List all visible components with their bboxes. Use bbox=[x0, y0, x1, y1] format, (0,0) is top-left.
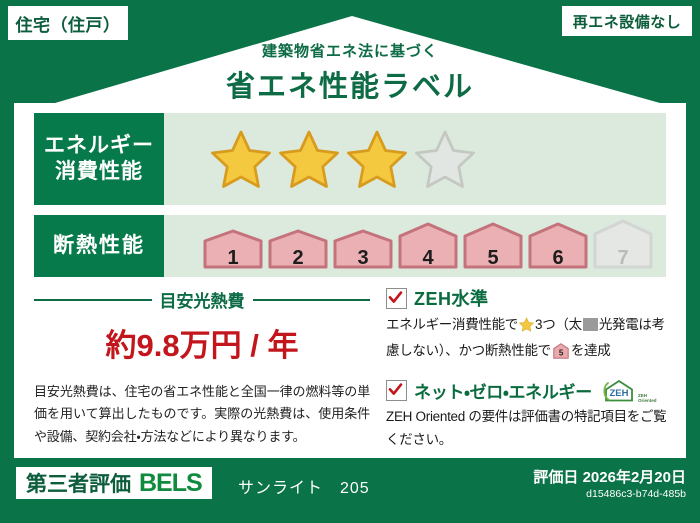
utility-cost-amount: 約9.8万円 / 年 bbox=[34, 320, 370, 365]
bels-energy-label: 住宅（住戸） 再エネ設備なし 建築物省エネ法に基づく 省エネ性能ラベル エネルギ… bbox=[0, 0, 700, 523]
zeh-standard-title-line: ZEH水準 bbox=[386, 285, 676, 311]
energy-performance-key: エネルギー 消費性能 bbox=[34, 113, 164, 205]
energy-key-line2: 消費性能 bbox=[55, 159, 143, 185]
insulation-level-5: 5 bbox=[462, 222, 524, 274]
redacted-character bbox=[583, 318, 598, 331]
insulation-level-number: 4 bbox=[397, 247, 459, 270]
bels-jp-label: 第三者評価 bbox=[26, 468, 131, 498]
insulation-performance-value: 1234567 bbox=[164, 215, 666, 277]
rule-right bbox=[253, 299, 371, 301]
insulation-key-label: 断熱性能 bbox=[53, 233, 145, 259]
net-zero-title-line: ネット・ゼロ・エネルギー ZEH ZEH Oriented bbox=[386, 378, 676, 403]
net-zero-checkbox[interactable] bbox=[386, 380, 407, 401]
star-empty-icon bbox=[414, 129, 476, 189]
page-title: 省エネ性能ラベル bbox=[0, 63, 700, 105]
insulation-level-1: 1 bbox=[202, 229, 264, 274]
renewable-equipment-label: 再エネ設備なし bbox=[573, 11, 682, 32]
insulation-level-7: 7 bbox=[592, 219, 654, 274]
zeh-desc-part3: を達成 bbox=[571, 343, 611, 358]
utility-cost-column: 目安光熱費 約9.8万円 / 年 目安光熱費は、住宅の省エネ性能と全国一律の燃料… bbox=[34, 285, 370, 448]
insulation-performance-key: 断熱性能 bbox=[34, 215, 164, 277]
insulation-scale: 1234567 bbox=[164, 219, 654, 274]
zeh-house-logo-icon: ZEH bbox=[602, 379, 636, 403]
utility-cost-heading-label: 目安光熱費 bbox=[160, 287, 245, 312]
main-panel: エネルギー 消費性能 断熱性能 1234567 目安光熱費 bbox=[14, 103, 686, 458]
zeh-logo: ZEH ZEH Oriented bbox=[602, 379, 657, 403]
rule-left bbox=[34, 299, 152, 301]
insulation-level-4: 4 bbox=[397, 222, 459, 274]
zeh-standard-description: エネルギー消費性能で3つ（太光発電は考慮しない）、かつ断熱性能で5を達成 bbox=[386, 314, 676, 366]
net-zero-title: ネット・ゼロ・エネルギー bbox=[414, 378, 592, 403]
evaluation-date-label: 評価日 bbox=[533, 469, 578, 486]
zeh-column: ZEH水準 エネルギー消費性能で3つ（太光発電は考慮しない）、かつ断熱性能で5を… bbox=[386, 285, 676, 456]
evaluation-date: 評価日 2026年2月20日 bbox=[533, 466, 686, 487]
insulation-level-2: 2 bbox=[267, 229, 329, 274]
insulation-level-6: 6 bbox=[527, 222, 589, 274]
energy-performance-value bbox=[164, 113, 666, 205]
dwelling-type-tag: 住宅（住戸） bbox=[8, 6, 128, 40]
renewable-equipment-tag: 再エネ設備なし bbox=[562, 6, 692, 36]
net-zero-description: ZEH Oriented の要件は評価書の特記項目をご覧ください。 bbox=[386, 406, 676, 451]
svg-text:ZEH: ZEH bbox=[609, 388, 628, 399]
evaluation-id: d15486c3-b74d-485b bbox=[586, 488, 686, 500]
insulation-level-3: 3 bbox=[332, 229, 394, 274]
insulation-level-number: 3 bbox=[332, 247, 394, 270]
inline-insulation-badge-icon: 5 bbox=[553, 343, 569, 367]
building-name: サンライト 205 bbox=[238, 474, 370, 498]
zeh-desc-stars: 3つ（太 bbox=[535, 317, 582, 332]
energy-key-line1: エネルギー bbox=[44, 133, 154, 159]
utility-cost-note: 目安光熱費は、住宅の省エネ性能と全国一律の燃料等の単価を用いて算出したものです。… bbox=[34, 381, 370, 448]
insulation-performance-row: 断熱性能 1234567 bbox=[34, 215, 666, 277]
bels-badge: 第三者評価 BELS bbox=[16, 467, 212, 499]
insulation-level-number: 2 bbox=[267, 247, 329, 270]
check-icon bbox=[388, 290, 403, 305]
zeh-standard-title: ZEH水準 bbox=[414, 285, 489, 311]
net-zero-energy-item: ネット・ゼロ・エネルギー ZEH ZEH Oriented bbox=[386, 378, 676, 451]
star-filled-icon bbox=[346, 129, 408, 189]
zeh-logo-caption: ZEH Oriented bbox=[638, 393, 657, 403]
star-rating bbox=[164, 129, 476, 189]
star-filled-icon bbox=[210, 129, 272, 189]
label-header: 建築物省エネ法に基づく 省エネ性能ラベル bbox=[0, 40, 700, 105]
insulation-level-number: 1 bbox=[202, 247, 264, 270]
utility-cost-heading: 目安光熱費 bbox=[34, 287, 370, 312]
insulation-level-number: 7 bbox=[592, 247, 654, 270]
zeh-desc-part1: エネルギー消費性能で bbox=[386, 317, 518, 332]
insulation-level-number: 5 bbox=[462, 247, 524, 270]
zeh-logo-caption-line2: Oriented bbox=[638, 398, 657, 403]
dwelling-type-label: 住宅（住戸） bbox=[16, 11, 121, 36]
inline-star-icon bbox=[519, 317, 534, 340]
evaluation-date-value: 2026年2月20日 bbox=[583, 469, 686, 486]
bels-en-label: BELS bbox=[139, 469, 202, 498]
zeh-standard-item: ZEH水準 エネルギー消費性能で3つ（太光発電は考慮しない）、かつ断熱性能で5を… bbox=[386, 285, 676, 366]
energy-performance-row: エネルギー 消費性能 bbox=[34, 113, 666, 205]
star-filled-icon bbox=[278, 129, 340, 189]
label-footer: 第三者評価 BELS サンライト 205 評価日 2026年2月20日 d154… bbox=[0, 462, 700, 523]
check-icon bbox=[388, 382, 403, 397]
zeh-standard-checkbox[interactable] bbox=[386, 288, 407, 309]
header-subtitle: 建築物省エネ法に基づく bbox=[0, 40, 700, 61]
lower-section: 目安光熱費 約9.8万円 / 年 目安光熱費は、住宅の省エネ性能と全国一律の燃料… bbox=[34, 285, 670, 445]
insulation-level-number: 6 bbox=[527, 247, 589, 270]
